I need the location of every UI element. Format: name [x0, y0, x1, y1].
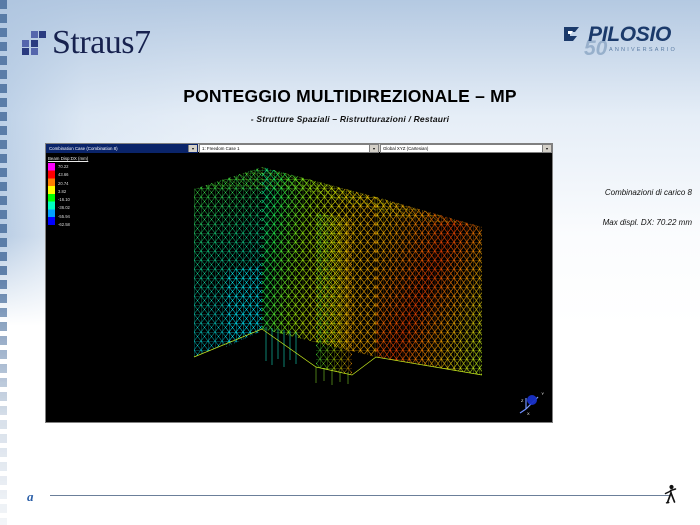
legend-value: -16.10: [58, 198, 70, 202]
legend-value: -55.94: [58, 215, 70, 219]
axis-label-x: X: [527, 412, 530, 416]
footer-divider: [50, 495, 670, 496]
straus7-squares-icon: [22, 31, 46, 55]
legend-title: Beam Disp:DX (mm): [48, 156, 88, 161]
chevron-down-icon[interactable]: ▾: [542, 145, 551, 152]
straus7-logo: Straus7: [22, 26, 151, 60]
pilosio-logo: 50 PILOSIO ANNIVERSARIO: [562, 22, 682, 62]
page-title: PONTEGGIO MULTIDIREZIONALE – MP: [0, 86, 700, 107]
straus7-toolbar: Combination Case (Combination 8) ▾ 1: Fr…: [46, 144, 552, 153]
chevron-down-icon[interactable]: ▾: [369, 145, 378, 152]
scaffold-model-3d[interactable]: [166, 161, 496, 411]
axis-triad: X Y Z: [518, 392, 544, 416]
annotation-max-displacement: Max displ. DX: 70.22 mm: [603, 218, 692, 227]
annotation-load-combination: Combinazioni di carico 8: [605, 188, 692, 197]
straus7-model-window: Combination Case (Combination 8) ▾ 1: Fr…: [45, 143, 553, 423]
legend-value: -36.02: [58, 206, 70, 210]
freedom-case-value: 1: Freedom Case 1: [202, 146, 240, 151]
contour-legend: Beam Disp:DX (mm) 70.22 43.66 20.74 3.82…: [48, 156, 88, 227]
axis-label-z: Z: [521, 399, 523, 403]
footer-logo-mark: a: [27, 490, 34, 503]
legend-value: -62.58: [58, 223, 70, 227]
slide-left-dashed-rail: [0, 0, 7, 525]
legend-value-list: 70.22 43.66 20.74 3.82 -16.10 -36.02 -55…: [55, 163, 70, 227]
pilosio-wordmark: PILOSIO: [588, 24, 671, 45]
page-subtitle: - Strutture Spaziali – Ristrutturazioni …: [0, 114, 700, 124]
axis-label-y: Y: [541, 392, 544, 396]
legend-value: 70.22: [58, 165, 70, 169]
chevron-down-icon[interactable]: ▾: [188, 145, 197, 152]
legend-value: 20.74: [58, 182, 70, 186]
coordinate-system-value: Global XYZ (Cartesian): [383, 146, 428, 151]
combination-case-dropdown[interactable]: Combination Case (Combination 8) ▾: [46, 144, 198, 153]
combination-case-value: Combination Case (Combination 8): [49, 146, 118, 151]
pilosio-p-icon: [562, 26, 584, 46]
legend-value: 43.66: [58, 173, 70, 177]
slide: Straus7 50 PILOSIO ANNIVERSARIO PONTEGGI…: [0, 0, 700, 525]
legend-value: 3.82: [58, 190, 70, 194]
freedom-case-dropdown[interactable]: 1: Freedom Case 1 ▾: [199, 144, 379, 153]
legend-color-bar: [48, 163, 55, 225]
pilosio-anniversary-label: ANNIVERSARIO: [609, 48, 677, 54]
straus7-wordmark: Straus7: [52, 26, 151, 60]
walking-person-icon: [660, 484, 678, 504]
model-viewport[interactable]: Beam Disp:DX (mm) 70.22 43.66 20.74 3.82…: [46, 153, 552, 422]
coordinate-system-dropdown[interactable]: Global XYZ (Cartesian) ▾: [380, 144, 552, 153]
